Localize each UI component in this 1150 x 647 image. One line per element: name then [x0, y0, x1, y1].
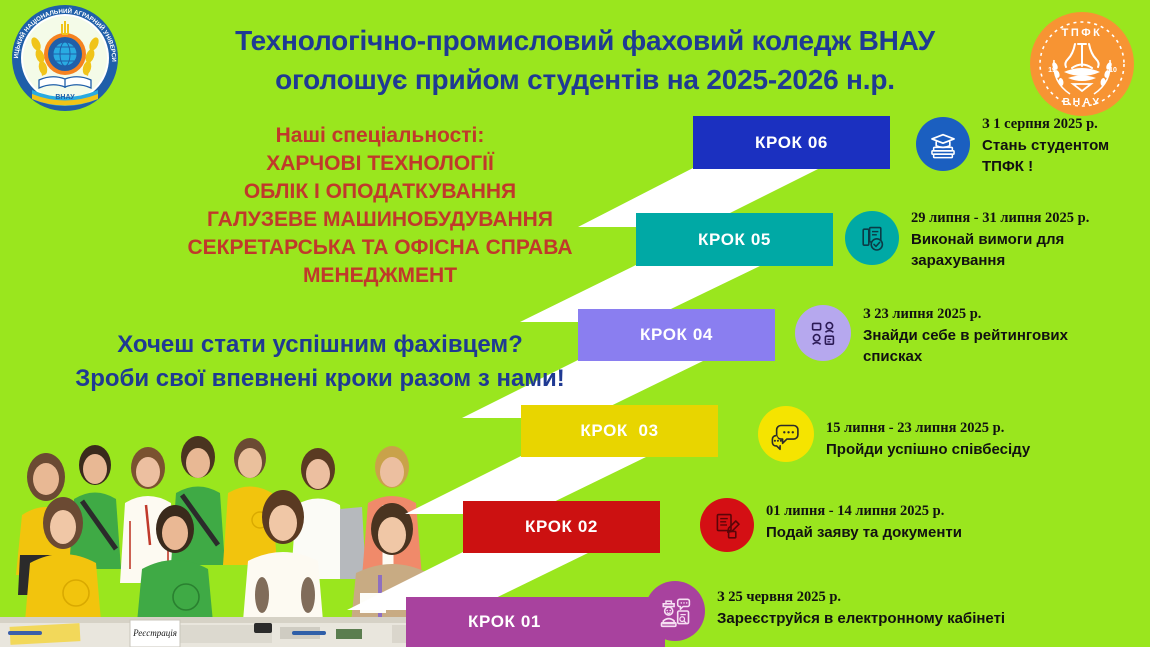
- step-05-date: 29 липня - 31 липня 2025 р.: [911, 208, 1089, 229]
- specialties-block: Наші спеціальності: ХАРЧОВІ ТЕХНОЛОГІЇ О…: [140, 122, 620, 290]
- step-bar-01[interactable]: КРОК 01: [406, 597, 665, 647]
- step-bar-04[interactable]: КРОК 04: [578, 309, 775, 361]
- chat-bubbles-icon: [758, 406, 814, 462]
- step-02-body-line-1: Подай заяву та документи: [766, 522, 962, 543]
- tpfk-logo-year-right: 10: [1109, 67, 1117, 74]
- step-04-label: КРОК 04: [640, 325, 713, 345]
- step-06-body-line-2: ТПФК !: [982, 156, 1109, 177]
- step-05-label: КРОК 05: [698, 230, 771, 250]
- online-registration-icon: [645, 581, 705, 641]
- step-05-body-line-1: Виконай вимоги для: [911, 229, 1089, 250]
- slogan-line-1: Хочеш стати успішним фахівцем?: [30, 328, 610, 362]
- step-bar-06[interactable]: КРОК 06: [693, 116, 890, 169]
- step-01-label: КРОК 01: [468, 612, 541, 632]
- title-line-1: Технологічно-промисловий фаховий коледж …: [150, 22, 1020, 61]
- poster-title: Технологічно-промисловий фаховий коледж …: [150, 22, 1020, 99]
- step-06-description: З 1 серпня 2025 р. Стань студентом ТПФК …: [916, 113, 1109, 178]
- document-check-icon: [845, 211, 899, 265]
- tpfk-logo-bottom-label: ВНАУ: [1063, 96, 1102, 108]
- step-01-text: З 25 червня 2025 р. Зареєструйся в елект…: [705, 581, 1005, 629]
- step-04-description: З 23 липня 2025 р. Знайди себе в рейтинг…: [795, 303, 1068, 368]
- step-06-text: З 1 серпня 2025 р. Стань студентом ТПФК …: [970, 113, 1109, 178]
- step-bar-05[interactable]: КРОК 05: [636, 213, 833, 266]
- specialties-heading: Наші спеціальності:: [140, 122, 620, 150]
- specialty-item-secretarial-office: СЕКРЕТАРСЬКА ТА ОФІСНА СПРАВА: [140, 234, 620, 262]
- step-02-text: 01 липня - 14 липня 2025 р. Подай заяву …: [754, 496, 962, 543]
- step-06-label: КРОК 06: [755, 133, 828, 153]
- step-bar-03[interactable]: КРОК 03: [521, 405, 718, 457]
- step-04-date: З 23 липня 2025 р.: [863, 304, 1068, 325]
- seal-abbr-label: ВНАУ: [55, 94, 75, 101]
- step-01-body-line-1: Зареєструйся в електронному кабінеті: [717, 608, 1005, 629]
- application-form-pen-icon: [700, 498, 754, 552]
- step-02-description: 01 липня - 14 липня 2025 р. Подай заяву …: [700, 496, 962, 552]
- step-05-text: 29 липня - 31 липня 2025 р. Виконай вимо…: [899, 207, 1089, 272]
- tpfk-college-logo: ТПФК ВНАУ 19 10: [1028, 10, 1136, 118]
- step-06-body-line-1: Стань студентом: [982, 135, 1109, 156]
- step-03-description: 15 липня - 23 липня 2025 р. Пройди успіш…: [758, 408, 1030, 462]
- step-02-date: 01 липня - 14 липня 2025 р.: [766, 501, 962, 522]
- students-group-photo: Реєстрація: [0, 425, 465, 647]
- step-03-date: 15 липня - 23 липня 2025 р.: [826, 418, 1030, 439]
- vnau-university-seal-logo: ВНАУ ВІННИЦЬКИЙ НАЦІОНАЛЬНИЙ АГРАРНИЙ УН…: [6, 2, 124, 114]
- slogan-block: Хочеш стати успішним фахівцем? Зроби сво…: [30, 328, 610, 396]
- step-03-body-line-1: Пройди успішно співбесіду: [826, 439, 1030, 460]
- graduation-cap-books-icon: [916, 117, 970, 171]
- step-04-text: З 23 липня 2025 р. Знайди себе в рейтинг…: [851, 303, 1068, 368]
- step-02-label: КРОК 02: [525, 517, 598, 537]
- poster-canvas: ВНАУ ВІННИЦЬКИЙ НАЦІОНАЛЬНИЙ АГРАРНИЙ УН…: [0, 0, 1150, 647]
- slogan-line-2: Зроби свої впевнені кроки разом з нами!: [30, 362, 610, 396]
- step-03-label: КРОК 03: [580, 421, 658, 441]
- people-list-icon: [795, 305, 851, 361]
- step-04-body-line-1: Знайди себе в рейтингових: [863, 325, 1068, 346]
- tpfk-logo-top-label: ТПФК: [1062, 27, 1103, 39]
- specialty-item-food-technology: ХАРЧОВІ ТЕХНОЛОГІЇ: [140, 150, 620, 178]
- title-line-2: оголошує прийом студентів на 2025-2026 н…: [150, 61, 1020, 100]
- tpfk-logo-year-left: 19: [1048, 67, 1056, 74]
- step-05-body-line-2: зарахування: [911, 250, 1089, 271]
- step-03-text: 15 липня - 23 липня 2025 р. Пройди успіш…: [814, 408, 1030, 460]
- svg-text:Реєстрація: Реєстрація: [132, 628, 177, 638]
- step-01-description: З 25 червня 2025 р. Зареєструйся в елект…: [645, 581, 1005, 641]
- specialty-item-accounting-taxation: ОБЛІК І ОПОДАТКУВАННЯ: [140, 178, 620, 206]
- step-bar-02[interactable]: КРОК 02: [463, 501, 660, 553]
- step-04-body-line-2: списках: [863, 346, 1068, 367]
- specialty-item-management: МЕНЕДЖМЕНТ: [140, 262, 620, 290]
- step-05-description: 29 липня - 31 липня 2025 р. Виконай вимо…: [845, 207, 1089, 272]
- step-01-date: З 25 червня 2025 р.: [717, 587, 1005, 608]
- specialty-item-mechanical-engineering: ГАЛУЗЕВЕ МАШИНОБУДУВАННЯ: [140, 206, 620, 234]
- registration-sign: Реєстрація: [130, 620, 180, 647]
